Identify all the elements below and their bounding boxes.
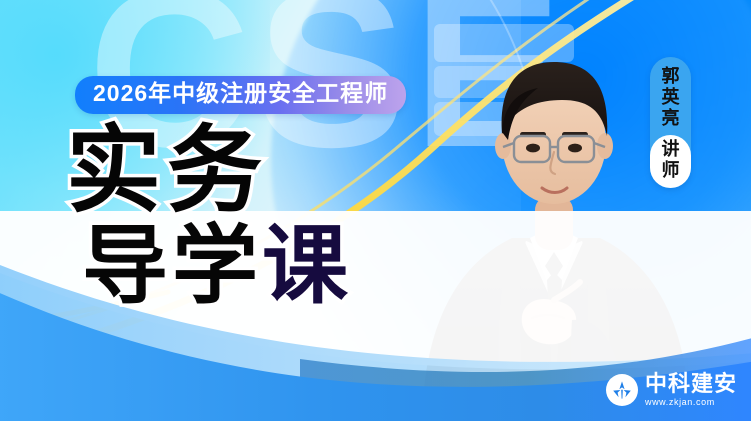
- instructor-name-char-1: 郭: [650, 66, 691, 87]
- brand-name: 中科建安: [645, 373, 737, 395]
- headline-group: 实务 导学课: [66, 125, 352, 308]
- instructor-name-char-3: 亮: [650, 108, 691, 129]
- brand-url: www.zkjan.com: [645, 398, 737, 407]
- headline-line-2: 导学课: [82, 224, 352, 308]
- headline-char-xue: 学: [172, 218, 262, 314]
- instructor-role-char-2: 师: [650, 160, 691, 181]
- headline-char-ke: 课: [262, 218, 352, 314]
- course-banner-label: 2026年中级注册安全工程师: [75, 76, 406, 114]
- instructor-name-badge: 郭 英 亮 讲 师: [650, 57, 691, 188]
- instructor-role-pill: 讲 师: [650, 135, 691, 188]
- brand-logo-text: 中科建安 www.zkjan.com: [645, 373, 737, 407]
- brand-logo: 中科建安 www.zkjan.com: [606, 373, 737, 407]
- headline-char-dao: 导: [82, 218, 172, 314]
- zkjan-circle-mark-icon: [606, 374, 638, 406]
- course-poster: CSE: [0, 0, 751, 421]
- headline-line-1: 实务: [66, 125, 352, 218]
- instructor-role-char-1: 讲: [650, 139, 691, 160]
- instructor-name-char-2: 英: [650, 87, 691, 108]
